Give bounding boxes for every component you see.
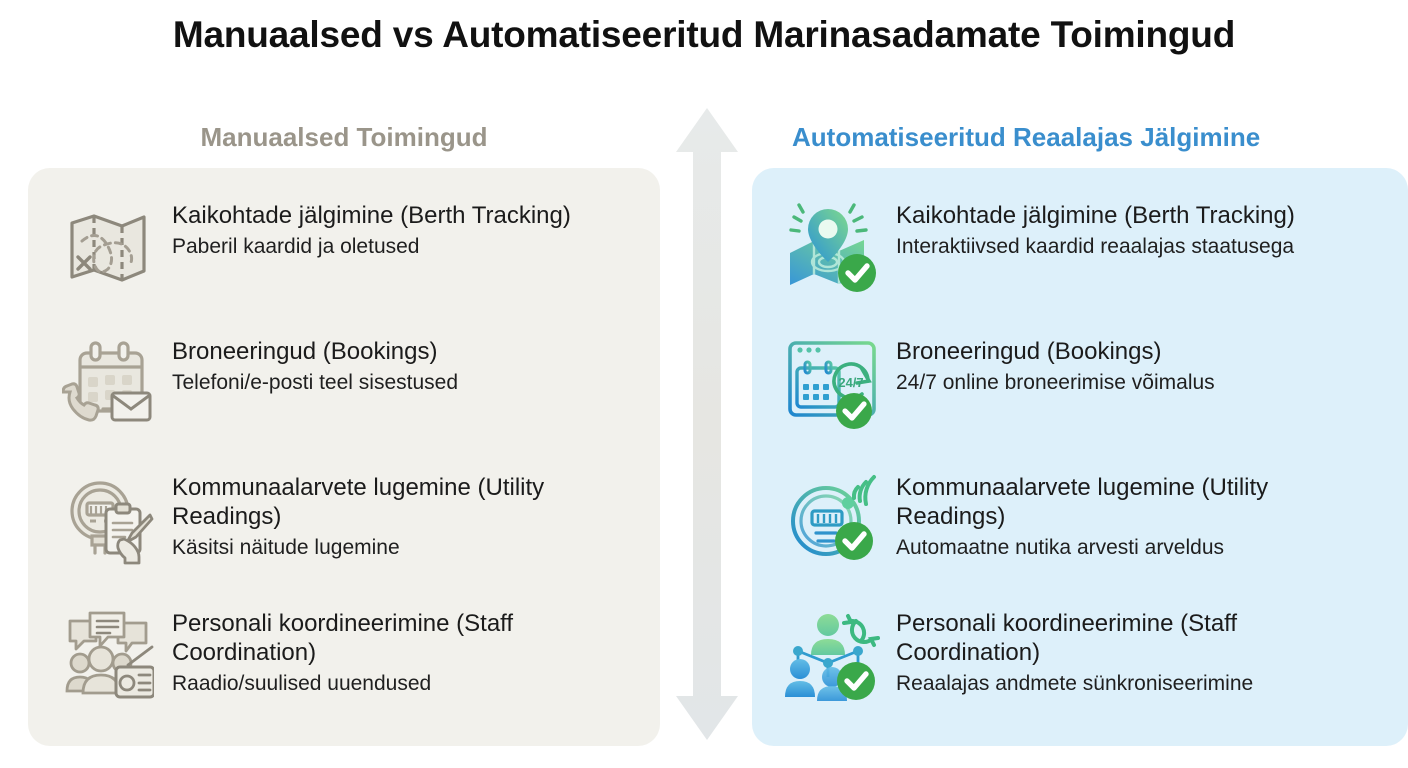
item-subtitle: Interaktiivsed kaardid reaalajas staatus… — [896, 234, 1366, 260]
check-badge-icon — [836, 393, 872, 429]
list-item: Personali koordineerimine (Staff Coordin… — [56, 600, 642, 736]
item-subtitle: Raadio/suulised uuendused — [172, 671, 612, 697]
left-column-header: Manuaalsed Toimingud — [28, 122, 660, 153]
item-title: Broneeringud (Bookings) — [896, 338, 1366, 367]
check-badge-icon — [835, 522, 873, 560]
item-subtitle: Reaalajas andmete sünkroniseerimine — [896, 671, 1366, 697]
item-title: Broneeringud (Bookings) — [172, 338, 612, 367]
svg-text:24/7: 24/7 — [838, 375, 863, 390]
item-title: Kaikohtade jälgimine (Berth Tracking) — [896, 202, 1366, 231]
item-subtitle: Paberil kaardid ja oletused — [172, 234, 612, 260]
online-booking-calendar-24-7-icon: 24/7 — [780, 328, 884, 438]
check-badge-icon — [837, 662, 875, 700]
smart-meter-wireless-icon — [780, 464, 884, 574]
meter-clipboard-hand-icon — [56, 464, 160, 574]
item-subtitle: Telefoni/e-posti teel sisestused — [172, 370, 612, 396]
item-title: Kaikohtade jälgimine (Berth Tracking) — [172, 202, 612, 231]
list-item: Kaikohtade jälgimine (Berth Tracking) Pa… — [56, 192, 642, 328]
list-item: Kommunaalarvete lugemine (Utility Readin… — [780, 464, 1390, 600]
list-item: Kommunaalarvete lugemine (Utility Readin… — [56, 464, 642, 600]
check-badge-icon — [838, 254, 876, 292]
list-item: Personali koordineerimine (Staff Coordin… — [780, 600, 1390, 736]
infographic-root: Manuaalsed vs Automatiseeritud Marinasad… — [0, 0, 1408, 768]
list-item: Broneeringud (Bookings) Telefoni/e-posti… — [56, 328, 642, 464]
item-subtitle: Automaatne nutika arvesti arveldus — [896, 535, 1366, 561]
right-column-header: Automatiseeritud Reaalajas Jälgimine — [752, 122, 1392, 153]
map-pin-live-icon — [780, 192, 884, 302]
staff-network-sync-icon — [780, 600, 884, 710]
automated-monitoring-panel: Kaikohtade jälgimine (Berth Tracking) In… — [752, 168, 1408, 746]
list-item: 24/7 Broneeringud (Bookings) 24/7 online… — [780, 328, 1390, 464]
manual-operations-panel: Kaikohtade jälgimine (Berth Tracking) Pa… — [28, 168, 660, 746]
item-subtitle: 24/7 online broneerimise võimalus — [896, 370, 1366, 396]
item-subtitle: Käsitsi näitude lugemine — [172, 535, 612, 561]
speech-bubbles-people-radio-icon — [56, 600, 160, 710]
item-title: Personali koordineerimine (Staff Coordin… — [172, 610, 612, 668]
item-title: Kommunaalarvete lugemine (Utility Readin… — [896, 474, 1366, 532]
calendar-phone-envelope-icon — [56, 328, 160, 438]
list-item: Kaikohtade jälgimine (Berth Tracking) In… — [780, 192, 1390, 328]
double-headed-vertical-arrow-icon — [670, 104, 744, 744]
item-title: Personali koordineerimine (Staff Coordin… — [896, 610, 1366, 668]
paper-map-icon — [56, 192, 160, 302]
item-title: Kommunaalarvete lugemine (Utility Readin… — [172, 474, 612, 532]
page-title: Manuaalsed vs Automatiseeritud Marinasad… — [0, 14, 1408, 56]
